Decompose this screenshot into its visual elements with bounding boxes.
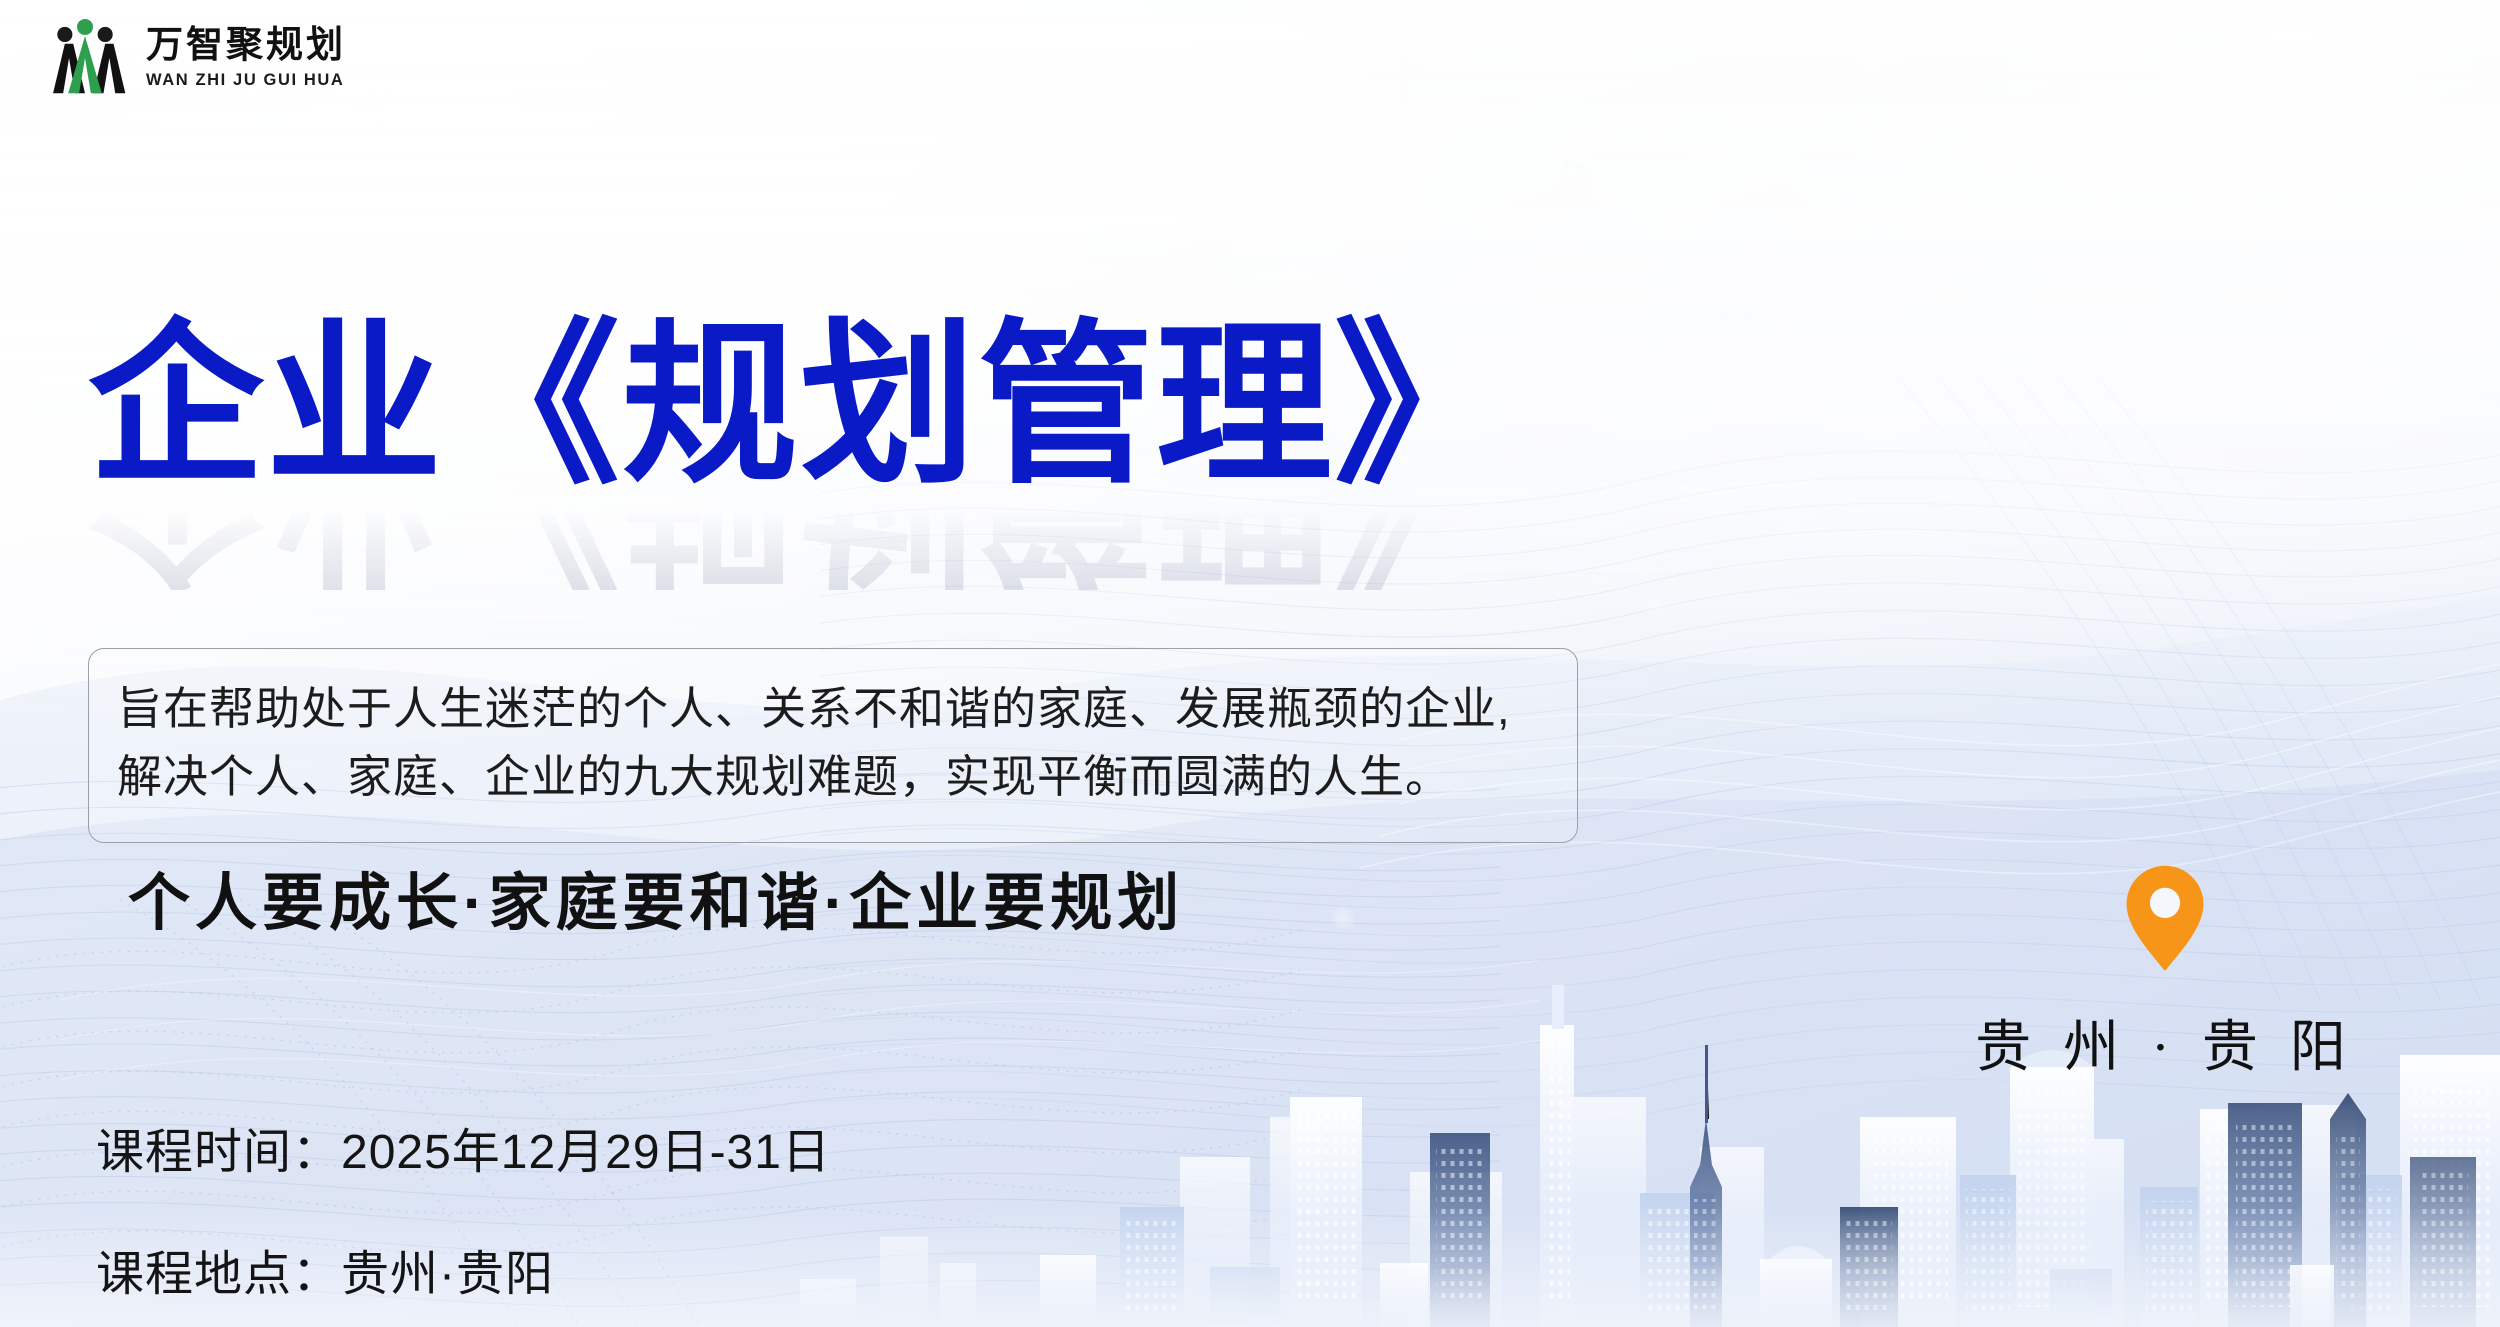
bokeh-circle	[1720, 300, 1754, 334]
course-info: 课程时间：2025年12月29日-31日 课程地点：贵州·贵阳	[96, 1112, 831, 1304]
bokeh-circle	[1560, 160, 1586, 186]
course-place: 课程地点：贵州·贵阳	[96, 1234, 831, 1304]
bokeh-circle	[1640, 590, 1670, 620]
bokeh-circle	[1330, 905, 1356, 931]
description-line-1: 旨在帮助处于人生迷茫的个人、关系不和谐的家庭、发展瓶颈的企业,	[117, 675, 1547, 743]
page-title-reflection: 企业《规划管理》	[88, 498, 1688, 590]
page-title: 企业《规划管理》	[88, 318, 1688, 494]
map-pin-icon	[2121, 862, 2209, 974]
tagline: 个人要成长·家庭要和谐·企业要规划	[128, 852, 1184, 942]
description-box: 旨在帮助处于人生迷茫的个人、关系不和谐的家庭、发展瓶颈的企业, 解决个人、家庭、…	[88, 648, 1578, 843]
brand-name-pinyin: WAN ZHI JU GUI HUA	[146, 71, 346, 90]
description-line-2: 解决个人、家庭、企业的九大规划难题，实现平衡而圆满的人生。	[117, 743, 1547, 811]
three-people-logo-icon	[42, 16, 128, 100]
bokeh-circle	[2420, 262, 2438, 280]
hero-headline-block: 企业《规划管理》 企业《规划管理》	[88, 318, 1688, 590]
course-time: 课程时间：2025年12月29日-31日	[96, 1112, 831, 1182]
bokeh-circle	[2240, 248, 2262, 270]
poster-canvas: 万智聚规划 WAN ZHI JU GUI HUA 企业《规划管理》 企业《规划管…	[0, 0, 2500, 1327]
location-label: 贵 州 · 贵 阳	[1955, 1002, 2375, 1083]
location-badge: 贵 州 · 贵 阳	[1955, 862, 2375, 1083]
brand-logo[interactable]: 万智聚规划 WAN ZHI JU GUI HUA	[42, 16, 346, 100]
brand-name-cn: 万智聚规划	[146, 26, 346, 67]
